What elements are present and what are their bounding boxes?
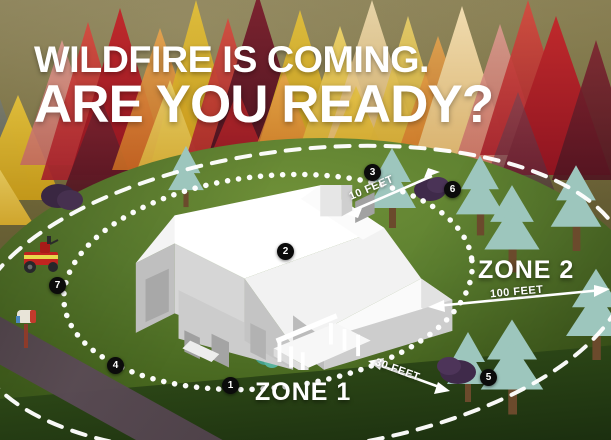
- headline-line-1: WILDFIRE IS COMING.: [34, 42, 605, 77]
- marker-3[interactable]: 3: [364, 164, 381, 181]
- headline-block: WILDFIRE IS COMING. ARE YOU READY?: [34, 42, 594, 131]
- marker-1[interactable]: 1: [222, 377, 239, 394]
- marker-7[interactable]: 7: [49, 277, 66, 294]
- headline-line-2: ARE YOU READY?: [34, 80, 594, 131]
- zone-1-label: ZONE 1: [255, 378, 351, 407]
- marker-2[interactable]: 2: [277, 243, 294, 260]
- zone-2-label: ZONE 2: [478, 256, 574, 285]
- marker-6[interactable]: 6: [444, 181, 461, 198]
- marker-4[interactable]: 4: [107, 357, 124, 374]
- infographic-canvas: 10 FEET 30 FEET 100 FEET ZONE 1 ZONE 2 1…: [0, 0, 611, 440]
- marker-5[interactable]: 5: [480, 369, 497, 386]
